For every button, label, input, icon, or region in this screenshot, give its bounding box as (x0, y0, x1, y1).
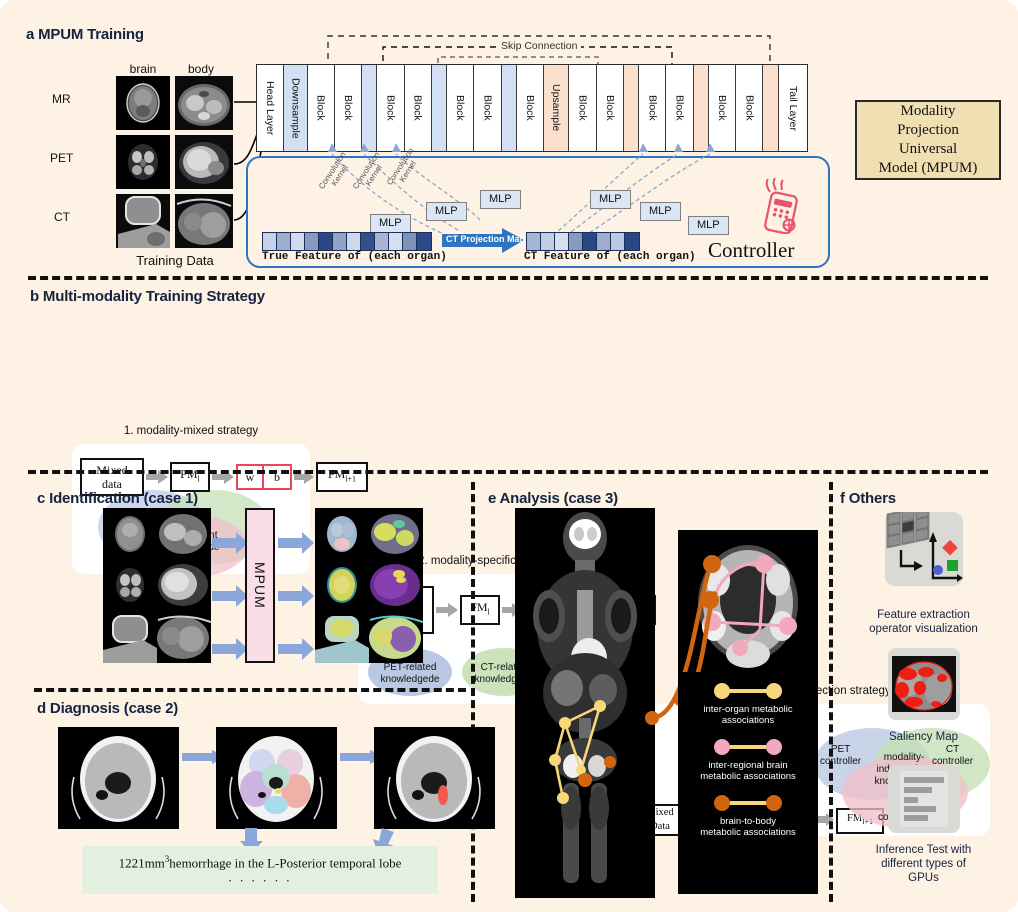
row-label-pet: PET (50, 151, 73, 165)
network-block-block-13: Block (569, 65, 596, 151)
divider-b-c (28, 470, 988, 474)
mlp-node-1: MLP (370, 214, 411, 233)
network-block-label: Upsample (550, 84, 562, 131)
true-feature-cell-2 (291, 233, 305, 250)
ct-feature-cell-6 (611, 233, 625, 250)
network-block-label: Block (315, 95, 327, 121)
mlp-node-5: MLP (640, 202, 681, 221)
mlp-node-2: MLP (426, 202, 467, 221)
network-block-block-2: Block (308, 65, 335, 151)
ct-feature-cell-7 (625, 233, 639, 250)
network-block-label: Block (384, 95, 396, 121)
network-block-label: Block (481, 95, 493, 121)
network-block-block-17: Block (666, 65, 693, 151)
panel-c-input-grid (103, 508, 211, 663)
strategy-2-fm-in: FMl (460, 595, 500, 625)
scan-mr-brain (116, 76, 170, 130)
true-feature-bar (262, 232, 432, 251)
network-block-label: Block (716, 95, 728, 121)
controller-label: Controller (708, 238, 794, 263)
ct-feature-cell-4 (583, 233, 597, 250)
scan-pet-brain (116, 135, 170, 189)
panel-c-output-grid (315, 508, 423, 663)
strategy-1-title: 1. modality-mixed strategy (72, 425, 310, 437)
true-feature-cell-0 (263, 233, 277, 250)
network-block-downsample-1: Downsample (284, 65, 307, 151)
network-block-label: Block (454, 95, 466, 121)
strategy-1-wb-box: w b (236, 464, 292, 490)
panel-d-result-line-1: 1221mm3hemorrhage in the L-Posterior tem… (119, 851, 402, 871)
panel-c-arrows-in (212, 520, 248, 660)
true-feature-cell-10 (403, 233, 417, 250)
true-feature-cell-7 (361, 233, 375, 250)
network-block-label: Downsample (289, 78, 301, 139)
mpum-line-4: Model (MPUM) (879, 159, 978, 178)
panel-c-mpum-box: MPUM (245, 508, 275, 663)
panel-c-arrows-out (278, 520, 314, 660)
panel-c-mpum-label: MPUM (252, 562, 268, 609)
divider-e-f (829, 482, 833, 902)
network-block-upsample-12: Upsample (544, 65, 569, 151)
mlp-node-6: MLP (688, 216, 729, 235)
network-block-block-9: Block (474, 65, 501, 151)
strategy-3-venn-pet: PET controller (820, 744, 861, 768)
scan-mr-body (175, 76, 233, 130)
panel-d-result-box: 1221mm3hemorrhage in the L-Posterior tem… (82, 846, 438, 894)
network-spacer-21 (763, 65, 778, 151)
divider-c-d (34, 688, 466, 692)
network-block-label: Tail Layer (787, 86, 799, 131)
network-block-block-5: Block (377, 65, 404, 151)
network-block-block-20: Block (736, 65, 763, 151)
strategy-2-arrow-1 (436, 603, 458, 617)
ct-feature-caption: CT Feature of (each organ) (524, 251, 696, 263)
true-feature-cell-4 (319, 233, 333, 250)
network-block-block-8: Block (447, 65, 474, 151)
network-spacer-7 (432, 65, 447, 151)
network-block-block-11: Block (517, 65, 544, 151)
legend-label-inter-organ: inter-organ metabolic associations (678, 704, 818, 726)
ct-feature-cell-3 (569, 233, 583, 250)
panel-f-caption-1: Feature extraction operator visualizatio… (829, 608, 1018, 636)
divider-cd-e (471, 482, 475, 902)
ct-feature-cell-0 (527, 233, 541, 250)
divider-a-b (28, 276, 988, 280)
true-feature-cell-5 (333, 233, 347, 250)
panel-f-caption-3: Inference Test with different types of G… (829, 843, 1018, 885)
mpum-box: Modality Projection Universal Model (MPU… (855, 100, 1001, 180)
mpum-line-3: Universal (899, 140, 957, 159)
true-feature-cell-8 (375, 233, 389, 250)
training-data-caption: Training Data (115, 253, 235, 268)
network-block-block-6: Block (405, 65, 432, 151)
mpum-line-2: Projection (897, 121, 959, 140)
true-feature-cell-3 (305, 233, 319, 250)
true-feature-cell-9 (389, 233, 403, 250)
remote-control-icon (758, 178, 806, 234)
ct-feature-cell-5 (597, 233, 611, 250)
scan-ct-body (175, 194, 233, 248)
true-feature-cell-6 (347, 233, 361, 250)
network-block-row: Head LayerDownsampleBlockBlockBlockBlock… (256, 64, 808, 152)
network-block-label: Head Layer (264, 81, 276, 135)
network-block-head-layer-0: Head Layer (257, 65, 284, 151)
scan-pet-body (175, 135, 233, 189)
legend-swatch-inter-regional (712, 738, 784, 756)
ct-projection-matrix-label: CT Projection Matrix (446, 234, 534, 244)
network-block-block-3: Block (335, 65, 362, 151)
network-block-label: Block (412, 95, 424, 121)
strategy-1-fm-in: FMl (170, 462, 210, 492)
strategy-2-label-pet: PET-related knowledgede (368, 662, 452, 686)
network-block-tail-layer-22: Tail Layer (779, 65, 807, 151)
figure-root: a MPUM Training brain body MR PET CT (0, 0, 1018, 912)
panel-d-scan-3 (374, 727, 495, 829)
network-block-label: Block (577, 95, 589, 121)
panel-c-title: c Identification (case 1) (37, 490, 198, 507)
controller-panel: Convolution Kernel Convolution Kernel Co… (246, 156, 830, 268)
true-feature-caption: True Feature of (each organ) (262, 251, 447, 263)
panel-d-scan-1 (58, 727, 179, 829)
panel-b-title: b Multi-modality Training Strategy (30, 288, 265, 305)
network-block-block-14: Block (597, 65, 624, 151)
strategy-1-fm-out: FMl+1 (316, 462, 368, 492)
hemorrhage-description: hemorrhage in the L-Posterior temporal l… (169, 856, 401, 871)
network-spacer-18 (694, 65, 709, 151)
panel-d-scan-2 (216, 727, 337, 829)
network-block-label: Block (674, 95, 686, 121)
ct-feature-cell-2 (555, 233, 569, 250)
network-block-block-19: Block (709, 65, 736, 151)
panel-d-title: d Diagnosis (case 2) (37, 700, 178, 717)
row-label-ct: CT (54, 210, 70, 224)
network-block-label: Block (743, 95, 755, 121)
col-header-brain: brain (116, 62, 170, 76)
panel-a-title: a MPUM Training (26, 26, 144, 43)
saliency-map-icon (888, 648, 960, 720)
feature-operator-icon (885, 512, 963, 586)
true-feature-cell-11 (417, 233, 431, 250)
legend-swatch-inter-organ (712, 682, 784, 700)
network-spacer-10 (502, 65, 517, 151)
network-spacer-4 (362, 65, 377, 151)
inference-test-icon (888, 765, 960, 833)
scan-ct-brain (116, 194, 170, 248)
panel-e-legend: inter-organ metabolic associations inter… (678, 672, 818, 894)
panel-f-caption-2: Saliency Map (829, 730, 1018, 744)
legend-swatch-brain-to-body (712, 794, 784, 812)
legend-label-brain-to-body: brain-to-body metabolic associations (678, 816, 818, 838)
network-block-block-16: Block (639, 65, 666, 151)
legend-label-inter-regional: inter-regional brain metabolic associati… (678, 760, 818, 782)
mlp-node-4: MLP (590, 190, 631, 209)
mlp-node-3: MLP (480, 190, 521, 209)
network-block-label: Block (342, 95, 354, 121)
strategy-1-input-label: Mixed data (96, 463, 127, 491)
panel-d-result-line-2: · · · · · · (228, 872, 292, 889)
skip-connection-label: Skip Connection (497, 40, 581, 52)
col-header-body: body (174, 62, 228, 76)
network-block-label: Block (524, 95, 536, 121)
panel-f-title: f Others (840, 490, 896, 507)
ct-feature-cell-1 (541, 233, 555, 250)
network-block-label: Block (604, 95, 616, 121)
network-block-label: Block (646, 95, 658, 121)
network-spacer-15 (624, 65, 639, 151)
row-label-mr: MR (52, 92, 71, 106)
panel-e-title: e Analysis (case 3) (488, 490, 618, 507)
hemorrhage-volume: 1221mm (119, 856, 165, 871)
mpum-line-1: Modality (901, 102, 956, 121)
true-feature-cell-1 (277, 233, 291, 250)
ct-feature-bar (526, 232, 640, 251)
